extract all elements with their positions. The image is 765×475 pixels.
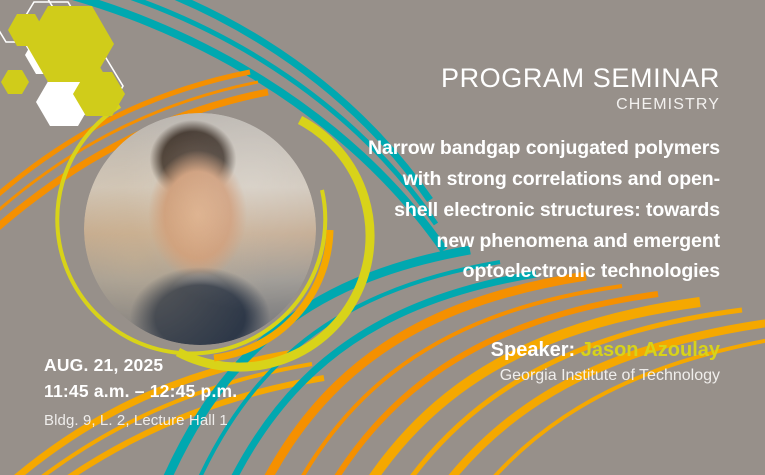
event-venue: Bldg. 9, L. 2, Lecture Hall 1 <box>44 412 344 429</box>
program-kicker: PROGRAM SEMINAR <box>360 64 720 93</box>
event-time: 11:45 a.m. – 12:45 p.m. <box>44 378 344 404</box>
event-details: AUG. 21, 2025 11:45 a.m. – 12:45 p.m. Bl… <box>44 352 344 429</box>
logo-hexagons <box>0 0 125 126</box>
speaker-name: Jason Azoulay <box>581 339 720 361</box>
speaker-block: Speaker: Jason Azoulay Georgia Institute… <box>360 338 720 385</box>
department-subkicker: CHEMISTRY <box>360 96 720 114</box>
speaker-affiliation: Georgia Institute of Technology <box>360 367 720 385</box>
header-block: PROGRAM SEMINAR CHEMISTRY Narrow bandgap… <box>360 64 720 287</box>
seminar-poster: PROGRAM SEMINAR CHEMISTRY Narrow bandgap… <box>0 0 765 475</box>
talk-title: Narrow bandgap conjugated polymers with … <box>360 133 720 287</box>
speaker-line: Speaker: Jason Azoulay <box>360 338 720 363</box>
speaker-label: Speaker: <box>491 339 576 361</box>
event-date: AUG. 21, 2025 <box>44 352 344 378</box>
